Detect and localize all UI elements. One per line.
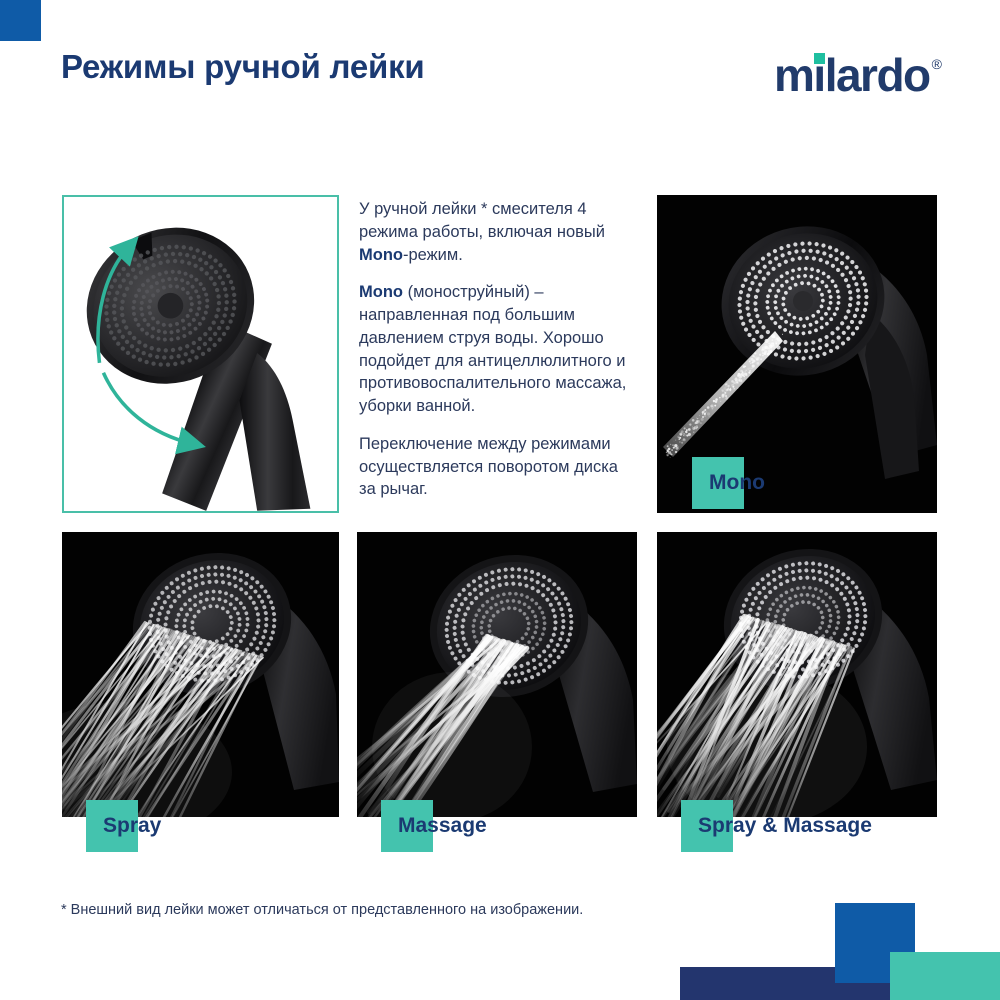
shower-head-rotate-icon bbox=[64, 197, 337, 511]
shower-spray-icon bbox=[62, 532, 339, 817]
poster-canvas: Режимы ручной лейки milardo ® bbox=[0, 0, 1000, 1000]
mode-label-text-spray: Spray bbox=[86, 800, 161, 852]
copy-p2-after: (моноструйный) – направленная под больши… bbox=[359, 283, 626, 415]
decor-square-footer-teal bbox=[890, 952, 1000, 1000]
brand-logo: milardo ® bbox=[774, 52, 942, 98]
copy-paragraph-1: У ручной лейки * смесителя 4 режима рабо… bbox=[359, 198, 631, 266]
mode-label-spray: Spray bbox=[86, 800, 161, 852]
logo-accent-dot-icon bbox=[814, 53, 825, 64]
copy-paragraph-3: Переключение между режимами осуществляет… bbox=[359, 433, 631, 501]
copy-p2-bold: Mono bbox=[359, 283, 403, 301]
copy-paragraph-2: Mono (моноструйный) – направленная под б… bbox=[359, 281, 631, 418]
body-copy: У ручной лейки * смесителя 4 режима рабо… bbox=[359, 198, 631, 501]
page-title: Режимы ручной лейки bbox=[61, 48, 425, 86]
panel-spray-massage bbox=[657, 532, 937, 817]
registered-trademark-icon: ® bbox=[932, 56, 942, 72]
mode-label-text-spray-massage: Spray & Massage bbox=[681, 800, 872, 852]
mode-label-massage: Massage bbox=[381, 800, 487, 852]
mode-label-text-mono: Mono bbox=[692, 457, 765, 509]
brand-logo-wordmark: milardo bbox=[774, 52, 930, 98]
shower-spray-massage-icon bbox=[657, 532, 937, 817]
footnote: * Внешний вид лейки может отличаться от … bbox=[61, 902, 583, 918]
panel-massage bbox=[357, 532, 637, 817]
copy-p1-before: У ручной лейки * смесителя 4 режима рабо… bbox=[359, 200, 605, 241]
brand-logo-text: milardo bbox=[774, 49, 930, 101]
mode-label-text-massage: Massage bbox=[381, 800, 487, 852]
mode-label-spray-massage: Spray & Massage bbox=[681, 800, 872, 852]
decor-square-top-left bbox=[0, 0, 41, 41]
mode-label-mono: Mono bbox=[692, 457, 765, 509]
copy-p1-after: -режим. bbox=[403, 246, 463, 264]
copy-p1-bold: Mono bbox=[359, 246, 403, 264]
panel-rotate-diagram bbox=[62, 195, 339, 513]
panel-spray bbox=[62, 532, 339, 817]
shower-massage-icon bbox=[357, 532, 637, 817]
